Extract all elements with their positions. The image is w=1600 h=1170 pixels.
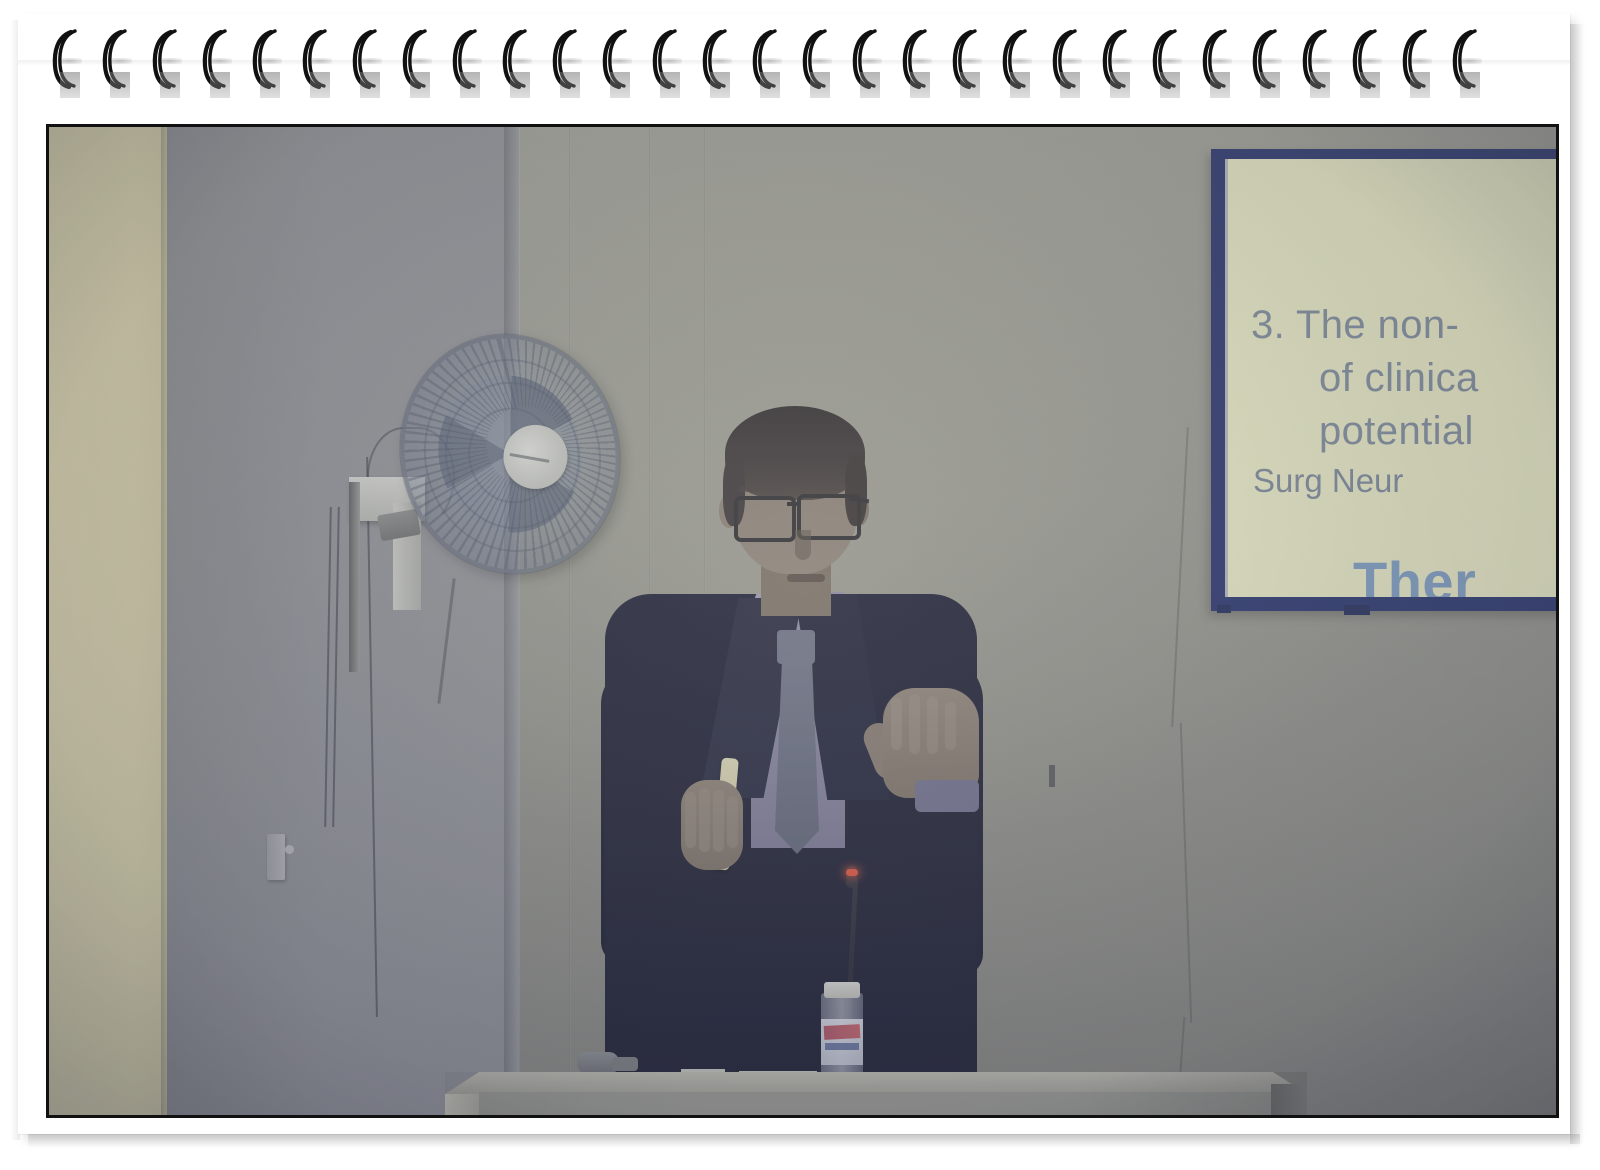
- wall-switch-knob: [285, 845, 294, 854]
- spiral-ring: [300, 28, 328, 90]
- spiral-ring: [650, 28, 678, 90]
- presenter-left-hand: [681, 780, 743, 870]
- finger: [685, 792, 696, 848]
- finger: [909, 694, 920, 754]
- presenter-eyebrow: [739, 486, 783, 492]
- screen-bracket: [1217, 605, 1231, 613]
- spiral-ring: [950, 28, 978, 90]
- finger: [945, 702, 956, 750]
- slide-reference: Surg Neur: [1251, 458, 1556, 503]
- page-edge-right: [1570, 24, 1584, 1144]
- slide-line-2: of clinica: [1251, 352, 1556, 405]
- wall-door-panel: [167, 127, 519, 1115]
- slide-heading: Ther: [1353, 549, 1476, 597]
- spiral-ring: [500, 28, 528, 90]
- spiral-ring: [200, 28, 228, 90]
- spiral-ring: [250, 28, 278, 90]
- wall-switch-box: [267, 834, 285, 880]
- presenter-nose: [795, 530, 811, 560]
- page-edge-bottom: [28, 1134, 1580, 1148]
- spiral-binding: [0, 0, 1600, 125]
- finger: [713, 790, 724, 852]
- spiral-ring: [1050, 28, 1078, 90]
- spiral-ring: [700, 28, 728, 90]
- spiral-ring: [1450, 28, 1478, 90]
- finger: [727, 796, 738, 848]
- spiral-ring: [150, 28, 178, 90]
- photo-frame: 3. The non- of clinica potential Surg Ne…: [46, 124, 1559, 1118]
- screen-bracket: [1344, 605, 1370, 615]
- spiral-ring: [800, 28, 828, 90]
- slide-line-3: potential: [1251, 405, 1556, 458]
- spiral-ring: [600, 28, 628, 90]
- wall-door-edge: [504, 127, 520, 1115]
- spiral-ring: [1250, 28, 1278, 90]
- spiral-ring: [1300, 28, 1328, 90]
- projection-screen: 3. The non- of clinica potential Surg Ne…: [1211, 149, 1556, 611]
- spiral-ring: [550, 28, 578, 90]
- finger: [699, 788, 710, 852]
- glasses-bridge: [787, 502, 801, 506]
- wall-bolt-icon: [1049, 765, 1055, 787]
- bottle-label-stripe: [825, 1043, 859, 1050]
- spiral-ring: [50, 28, 78, 90]
- spiral-ring: [100, 28, 128, 90]
- spiral-ring: [1000, 28, 1028, 90]
- presenter-cuff: [915, 780, 979, 812]
- spiral-ring: [1350, 28, 1378, 90]
- bottle-cap: [824, 982, 860, 998]
- spiral-ring: [1150, 28, 1178, 90]
- finger: [927, 696, 938, 754]
- microphone-led-icon: [846, 869, 858, 876]
- spiral-ring: [900, 28, 928, 90]
- spiral-ring: [1100, 28, 1128, 90]
- bottle-label-accent: [824, 1024, 861, 1040]
- lectern-device: [612, 1057, 638, 1071]
- slide-body: 3. The non- of clinica potential Surg Ne…: [1251, 299, 1556, 503]
- presenter-figure: [549, 402, 1019, 1082]
- slide-line-1: 3. The non-: [1251, 299, 1556, 352]
- spiral-ring: [350, 28, 378, 90]
- photograph: 3. The non- of clinica potential Surg Ne…: [49, 127, 1556, 1115]
- wall-cream-panel: [49, 127, 167, 1115]
- spiral-ring: [1200, 28, 1228, 90]
- notebook-page: 3. The non- of clinica potential Surg Ne…: [0, 0, 1600, 1170]
- spiral-ring: [1400, 28, 1428, 90]
- spiral-ring: [850, 28, 878, 90]
- fan-bracket-foot: [349, 482, 360, 672]
- spiral-ring: [450, 28, 478, 90]
- spiral-ring: [750, 28, 778, 90]
- presenter-tie: [775, 658, 819, 854]
- presenter-eyebrow: [803, 484, 847, 490]
- finger: [891, 698, 902, 750]
- fan-hub-marking: [509, 453, 549, 463]
- lectern: [445, 1072, 1307, 1115]
- projected-slide: 3. The non- of clinica potential Surg Ne…: [1225, 159, 1556, 597]
- spiral-ring: [400, 28, 428, 90]
- lectern-shading: [445, 1072, 1307, 1115]
- presenter-mouth: [787, 574, 825, 582]
